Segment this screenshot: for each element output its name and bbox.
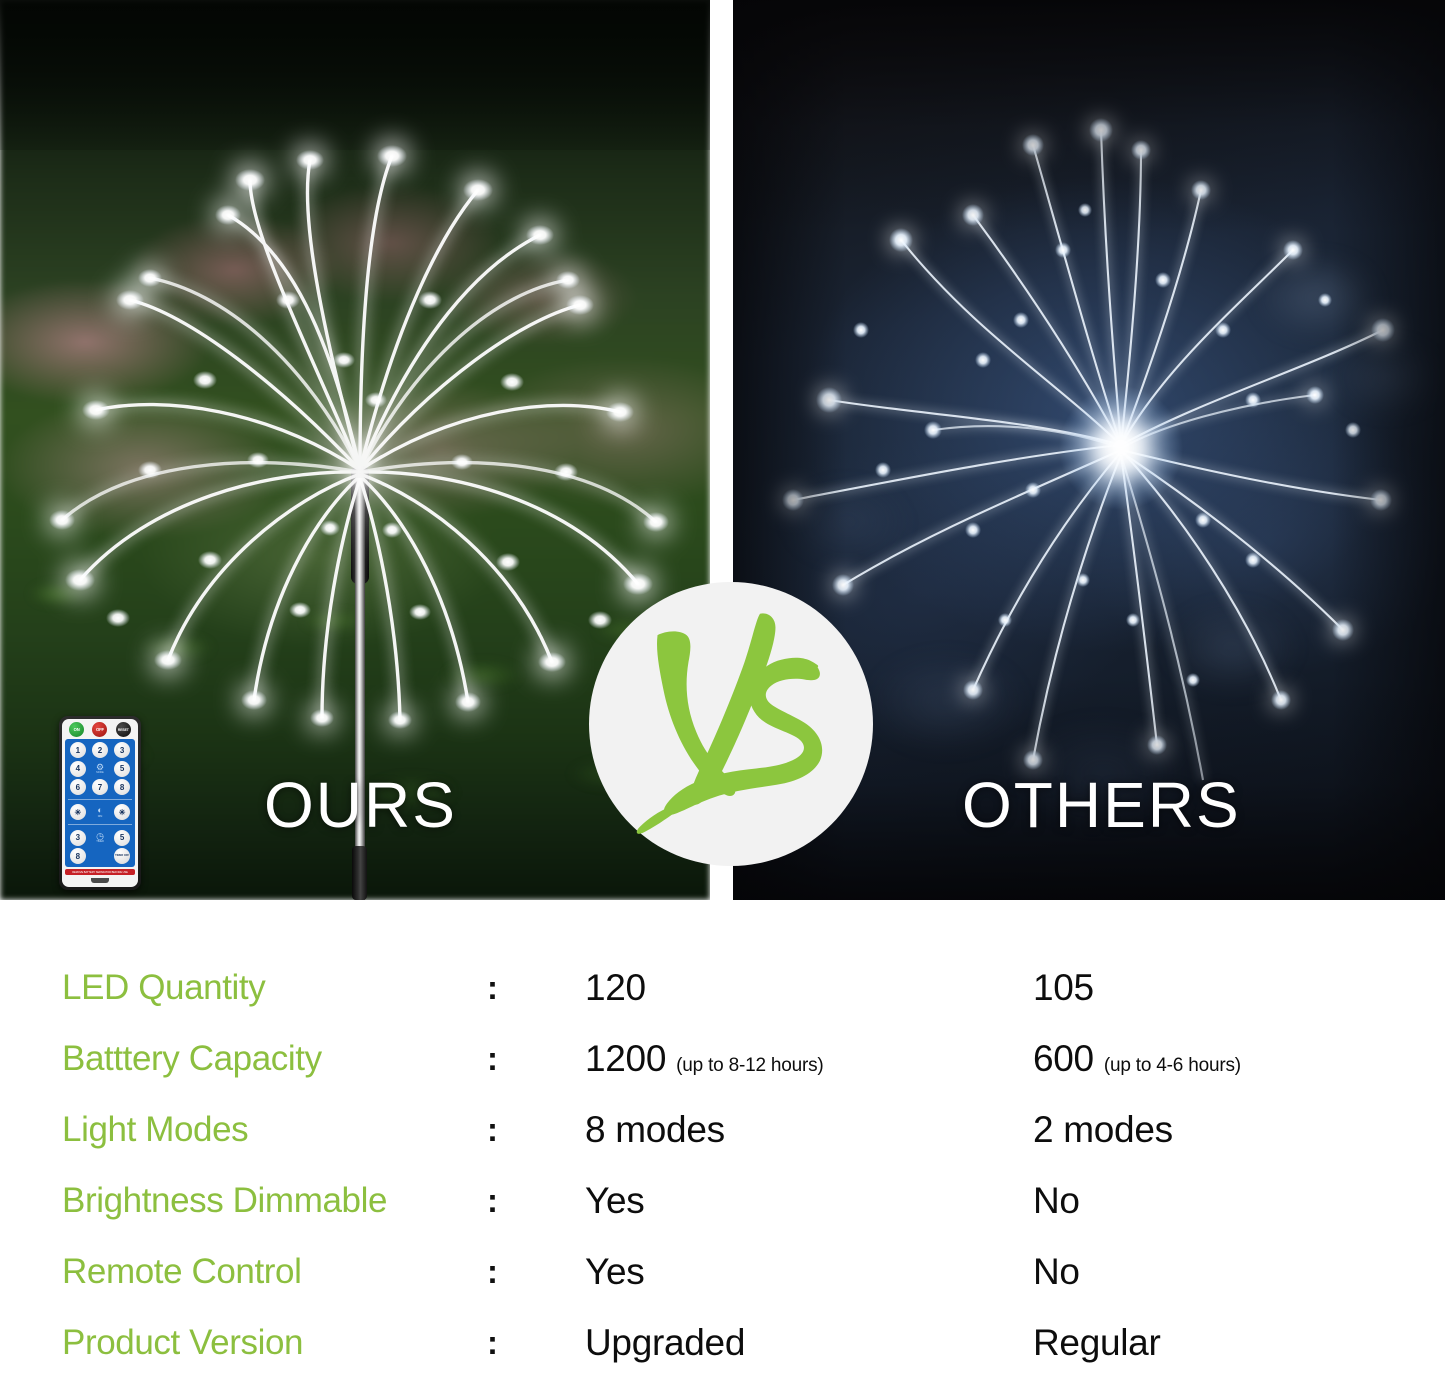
vs-brushstroke-icon <box>615 608 847 840</box>
spec-ours-value: 1200 (up to 8-12 hours) <box>585 1038 824 1080</box>
remote-keys-row-4: 3 ◷ TIMER 5 <box>68 830 132 846</box>
remote-keys-row-5: 8 TIMER OFF <box>68 848 132 864</box>
remote-divider-1 <box>68 799 132 800</box>
table-row: Product Version : Upgraded Regular <box>0 1307 1445 1378</box>
mode-gear-icon[interactable]: ⚙ MODE <box>96 763 104 775</box>
brightness-extra-icon[interactable]: ✳ <box>114 804 130 820</box>
remote-keypad-panel: 1 2 3 4 ⚙ MODE 5 6 7 8 <box>65 739 135 867</box>
remote-key-6[interactable]: 6 <box>70 779 86 795</box>
spec-colon: : <box>487 1324 498 1362</box>
spec-others-value: 600 (up to 4-6 hours) <box>1033 1038 1241 1080</box>
dim-glyph: ◐ <box>97 806 102 815</box>
spec-ours-main: 1200 <box>585 1038 666 1080</box>
remote-divider-2 <box>68 824 132 825</box>
spec-label-remote-control: Remote Control <box>62 1252 482 1292</box>
remote-power-row: ON OFF RESET <box>65 722 135 737</box>
spec-others-value: No <box>1033 1251 1090 1293</box>
remote-off-button[interactable]: OFF <box>92 722 107 737</box>
spec-ours-value: Yes <box>585 1180 654 1222</box>
ours-label: OURS <box>264 768 457 842</box>
table-row: Brightness Dimmable : Yes No <box>0 1165 1445 1236</box>
spec-ours-value: Upgraded <box>585 1322 755 1364</box>
specification-table: LED Quantity : 120 105 Batttery Capacity… <box>0 900 1445 1373</box>
remote-battery-notch <box>91 878 109 883</box>
spec-others-main: 600 <box>1033 1038 1094 1080</box>
remote-brightness-row: ✳ ◐ DIM ✳ <box>68 804 132 820</box>
remote-key-3b[interactable]: 3 <box>70 830 86 846</box>
spec-ours-value: Yes <box>585 1251 654 1293</box>
spec-others-value: 2 modes <box>1033 1109 1183 1151</box>
remote-warning-strip: REMOVE BATTERY SEPARATOR BEFORE USE <box>65 869 135 875</box>
spec-ours-value: 8 modes <box>585 1109 735 1151</box>
remote-keys-row-3: 6 7 8 <box>68 779 132 795</box>
remote-key-4[interactable]: 4 <box>70 761 86 777</box>
dim-label: DIM <box>98 816 102 819</box>
dim-icon[interactable]: ◐ DIM <box>97 806 102 818</box>
remote-key-8b[interactable]: 8 <box>70 848 86 864</box>
brightness-up-icon[interactable]: ✳ <box>70 804 86 820</box>
remote-key-2[interactable]: 2 <box>92 742 108 758</box>
remote-key-5b[interactable]: 5 <box>114 830 130 846</box>
remote-key-7[interactable]: 7 <box>92 779 108 795</box>
photo-comparison-band: ON OFF RESET 1 2 3 4 ⚙ MODE 5 <box>0 0 1445 900</box>
remote-control: ON OFF RESET 1 2 3 4 ⚙ MODE 5 <box>59 716 141 890</box>
table-row: LED Quantity : 120 105 <box>0 952 1445 1023</box>
table-row: Batttery Capacity : 1200 (up to 8-12 hou… <box>0 1023 1445 1094</box>
spec-ours-main: Yes <box>585 1180 644 1222</box>
table-row: Light Modes : 8 modes 2 modes <box>0 1094 1445 1165</box>
remote-key-8[interactable]: 8 <box>114 779 130 795</box>
spec-ours-value: 120 <box>585 967 656 1009</box>
others-label: OTHERS <box>962 768 1241 842</box>
spec-others-value: 105 <box>1033 967 1104 1009</box>
spec-ours-main: Yes <box>585 1251 644 1293</box>
spec-colon: : <box>487 969 498 1007</box>
vs-badge <box>589 582 873 866</box>
table-row: Remote Control : Yes No <box>0 1236 1445 1307</box>
spec-ours-main: 8 modes <box>585 1109 725 1151</box>
spec-others-main: 2 modes <box>1033 1109 1173 1151</box>
remote-keys-row-2: 4 ⚙ MODE 5 <box>68 761 132 777</box>
spec-ours-main: Upgraded <box>585 1322 745 1364</box>
timer-label: TIMER <box>96 841 104 844</box>
spec-others-value: No <box>1033 1180 1090 1222</box>
timer-off-button[interactable]: TIMER OFF <box>114 848 130 864</box>
remote-key-1[interactable]: 1 <box>70 742 86 758</box>
spec-others-note: (up to 4-6 hours) <box>1104 1055 1241 1077</box>
spec-label-brightness-dimmable: Brightness Dimmable <box>62 1181 482 1221</box>
timer-clock-icon[interactable]: ◷ TIMER <box>96 832 104 844</box>
spec-label-led-quantity: LED Quantity <box>62 968 482 1008</box>
remote-on-button[interactable]: ON <box>69 722 84 737</box>
spec-ours-main: 120 <box>585 967 646 1009</box>
remote-key-3[interactable]: 3 <box>114 742 130 758</box>
spec-others-main: Regular <box>1033 1322 1160 1364</box>
remote-keys-row-1: 1 2 3 <box>68 742 132 758</box>
spec-label-battery-capacity: Batttery Capacity <box>62 1039 482 1079</box>
spec-others-main: No <box>1033 1180 1080 1222</box>
spec-colon: : <box>487 1182 498 1220</box>
spec-colon: : <box>487 1253 498 1291</box>
remote-reset-button[interactable]: RESET <box>116 722 131 737</box>
spec-others-value: Regular <box>1033 1322 1170 1364</box>
mode-gear-label: MODE <box>96 772 103 775</box>
spec-others-main: 105 <box>1033 967 1094 1009</box>
remote-face: ON OFF RESET 1 2 3 4 ⚙ MODE 5 <box>62 719 138 887</box>
spec-label-light-modes: Light Modes <box>62 1110 482 1150</box>
spec-ours-note: (up to 8-12 hours) <box>676 1055 823 1077</box>
spec-colon: : <box>487 1040 498 1078</box>
spec-label-product-version: Product Version <box>62 1323 482 1363</box>
spec-colon: : <box>487 1111 498 1149</box>
remote-key-5[interactable]: 5 <box>114 761 130 777</box>
spec-others-main: No <box>1033 1251 1080 1293</box>
